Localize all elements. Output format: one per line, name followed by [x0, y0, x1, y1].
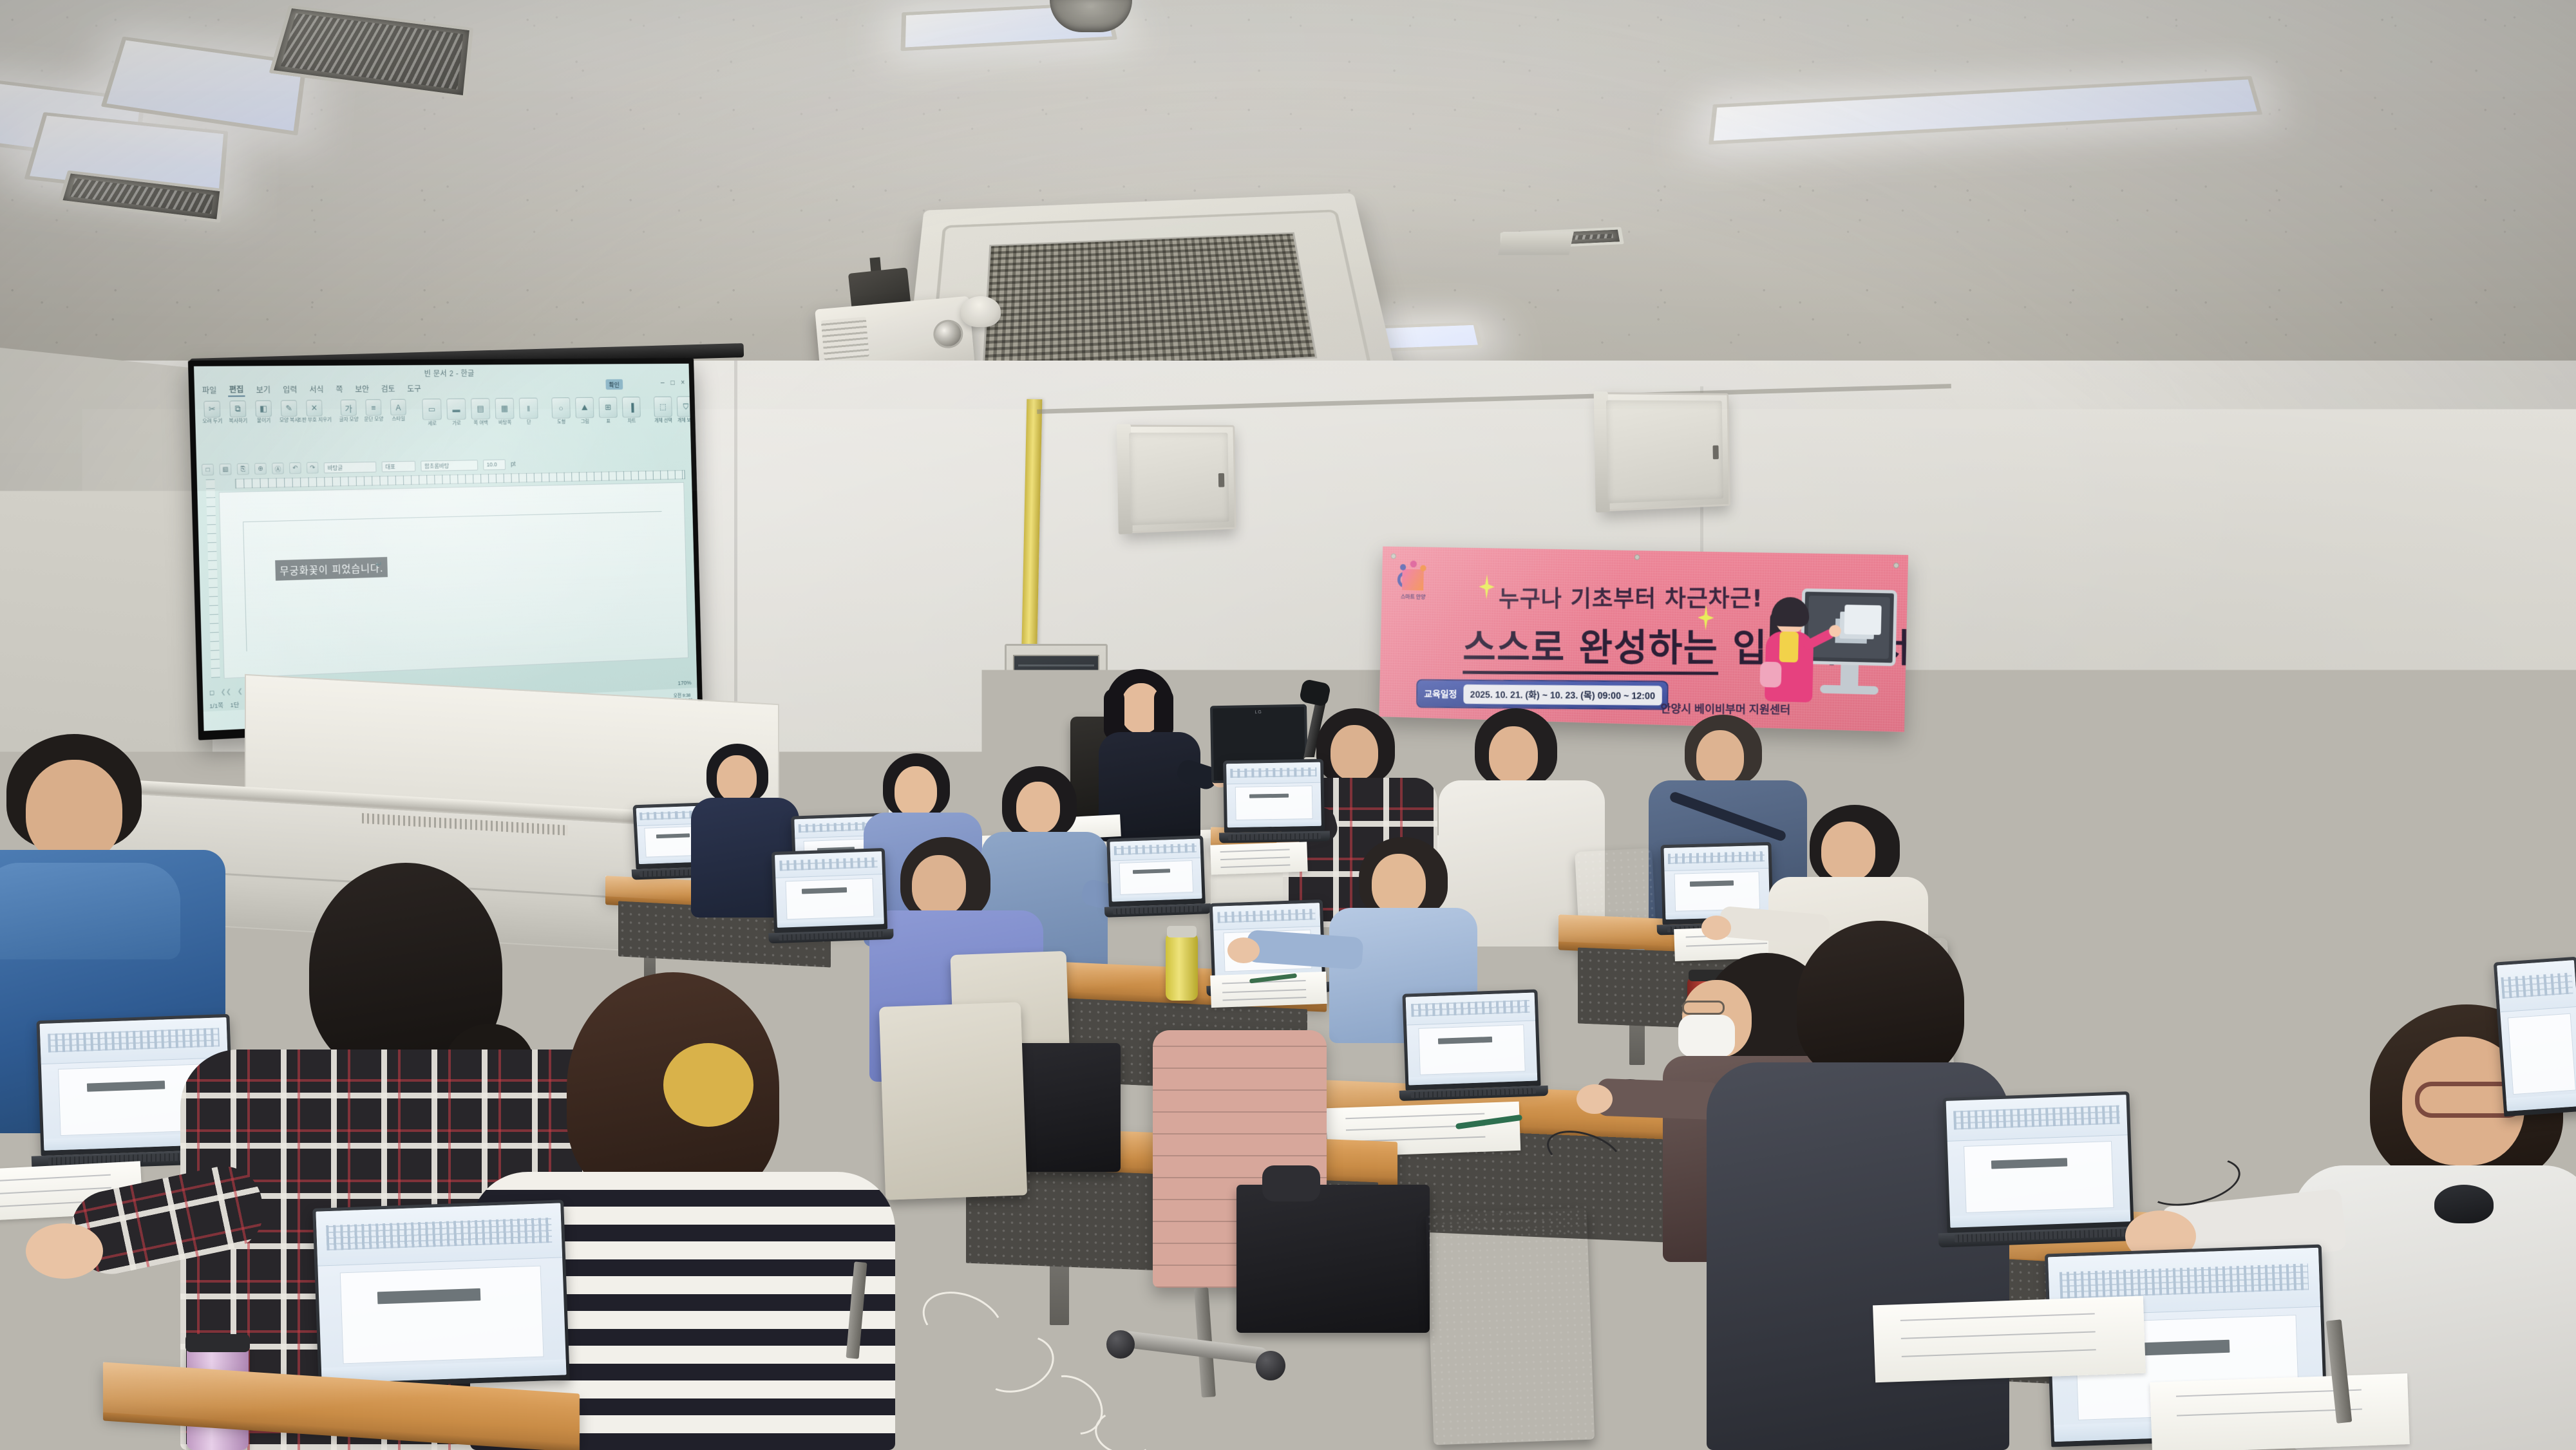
wall-speaker-left: [1121, 425, 1236, 534]
projector-lens-icon: [933, 319, 965, 350]
schedule-label: 교육일정: [1417, 687, 1464, 701]
handout-paper: [2150, 1373, 2410, 1450]
ribbon-group-page: ▭ 세로 ▬ 가로 ▤ 쪽 여백 ▦ 바탕쪽: [421, 398, 538, 427]
ribbon-label-picture: 그림: [581, 419, 589, 425]
ribbon-label-object-select: 개체 선택: [654, 419, 672, 424]
paper-cup: [2080, 882, 2106, 916]
ribbon-label-paragraph-shape: 문단 모양: [364, 417, 383, 422]
redo-icon[interactable]: ↷: [307, 462, 319, 474]
chair-with-cushion: [879, 1002, 1027, 1200]
heater-vent: [362, 813, 568, 836]
font-size-input[interactable]: 10.0: [483, 459, 506, 470]
logo-dot: [1410, 561, 1417, 568]
speaker-port-icon: [1713, 446, 1719, 460]
handout-paper: [1873, 1296, 2146, 1383]
speaker-face: [1606, 400, 1723, 504]
laptop[interactable]: [1402, 989, 1540, 1090]
speaker-port-icon: [1218, 473, 1225, 487]
ribbon-label-table: 표: [606, 419, 611, 424]
clear-marks-icon: ✕: [306, 400, 323, 417]
student-hand: [1577, 1084, 1613, 1114]
open-doc-icon[interactable]: ▧: [219, 464, 231, 475]
monitor-base: [1820, 685, 1879, 695]
laptop-keyboard[interactable]: [1970, 910, 2071, 919]
menu-item-security[interactable]: 보안: [354, 381, 370, 395]
student-head: [26, 760, 122, 863]
logo-heart-shape: [1636, 706, 1648, 719]
laptop-lid: [1402, 989, 1540, 1090]
ribbon-button-object-protect[interactable]: ⛉ 개체 보호: [676, 396, 696, 423]
paste-icon: ◧: [255, 400, 272, 417]
undo-icon[interactable]: ↶: [289, 462, 301, 474]
banner-pin: [1634, 554, 1640, 560]
laptop-screen: [316, 1203, 566, 1383]
student-head: [1016, 782, 1060, 833]
illustration-folders-icon: [1844, 605, 1881, 635]
laptop-screen: [1110, 839, 1202, 902]
event-banner: 스마트 안양 누구나 기초부터 차근차근! 스스로 완성하는 입시지원서 교육일…: [1379, 547, 1908, 732]
window-controls[interactable]: – □ ×: [661, 378, 685, 386]
jacket-hood: [0, 863, 180, 959]
banner-pin: [1391, 553, 1396, 559]
ceiling-bracket: [1498, 232, 1574, 255]
ribbon-button-table[interactable]: ⊞ 표: [598, 397, 618, 424]
menu-item-review[interactable]: 검토: [380, 381, 397, 395]
laptop[interactable]: [1106, 835, 1206, 907]
ribbon-separator: [545, 398, 546, 435]
laptop-lid: [772, 848, 887, 933]
style-dropdown[interactable]: 바탕글: [324, 461, 377, 473]
ribbon-label-portrait: 세로: [428, 421, 437, 427]
laptop-screen: [775, 851, 884, 928]
ribbon-button-font-shape[interactable]: 가 글자 모양: [338, 399, 359, 422]
speaker-face: [1129, 433, 1229, 525]
laptop[interactable]: [1963, 829, 2075, 912]
preview-icon[interactable]: Ⓐ: [272, 462, 284, 474]
chart-icon: ▐: [622, 397, 641, 417]
monitor-brand-label: LG: [1255, 710, 1262, 715]
minimize-icon[interactable]: –: [661, 379, 665, 387]
laptop-keyboard[interactable]: [1411, 1088, 1536, 1098]
ribbon-label-object-protect: 개체 보호: [677, 418, 696, 424]
ribbon-group-object: ⬚ 개체 선택 ⛉ 개체 보호 ⧉ 묶기 ⇅ 위: [653, 396, 697, 424]
ribbon-label-chart: 차트: [627, 419, 636, 424]
ribbon-button-clear-marks[interactable]: ✕ 조판 부호 지우기: [303, 400, 325, 424]
new-doc-icon[interactable]: □: [202, 464, 214, 475]
ribbon-button-chart[interactable]: ▐ 차트: [621, 397, 641, 424]
laptop[interactable]: [1942, 1091, 2134, 1233]
ribbon-label-font-shape: 글자 모양: [339, 417, 359, 423]
illustration-person: [1757, 600, 1819, 709]
banner-headline: 누구나 기초부터 차근차근!: [1499, 579, 1763, 614]
maximize-icon[interactable]: □: [670, 378, 675, 386]
save-doc-icon[interactable]: ⎘: [237, 463, 249, 475]
hwp-ribbon[interactable]: ✂ 오려 두기 ⧉ 복사하기 ◧ 붙이기 ✎ 모: [198, 394, 688, 464]
ribbon-label-master-page: 바탕쪽: [498, 420, 511, 426]
laptop-screen: [1406, 993, 1538, 1086]
menu-item-format[interactable]: 서식: [308, 382, 325, 395]
laptop[interactable]: [312, 1200, 570, 1388]
ribbon-confirm-badge[interactable]: 확인: [605, 379, 623, 390]
logo-heart-shape: [1402, 569, 1424, 590]
ribbon-label-paste: 붙이기: [257, 418, 271, 424]
table-icon: ⊞: [599, 397, 618, 418]
ribbon-button-master-page[interactable]: ▦ 바탕쪽: [495, 398, 515, 426]
schedule-value: 2025. 10. 21. (화) ~ 10. 23. (목) 09:00 ~ …: [1464, 684, 1662, 706]
banner-illustration: [1749, 584, 1897, 715]
ribbon-label-style: 스타일: [392, 417, 405, 422]
ribbon-label-clear-marks: 조판 부호 지우기: [298, 417, 332, 423]
ribbon-button-copy[interactable]: ⧉ 복사하기: [227, 400, 249, 424]
document-page[interactable]: 무궁화꽃이 피었습니다. ↵: [219, 482, 688, 679]
student-hand: [1227, 937, 1260, 963]
margin-icon: ▤: [471, 398, 490, 419]
ribbon-button-margin[interactable]: ▤ 쪽 여백: [470, 398, 491, 426]
student-head: [717, 755, 757, 802]
student-head: [1331, 725, 1378, 780]
status-page: 1/1쪽: [209, 701, 223, 710]
picture-icon: ⛰: [575, 397, 594, 419]
laptop-screen: [1226, 762, 1321, 828]
shape-icon: ○: [551, 397, 571, 419]
ribbon-button-object-select[interactable]: ⬚ 개체 선택: [653, 397, 673, 424]
student-head: [1696, 730, 1744, 784]
menu-item-file[interactable]: 파일: [201, 382, 218, 396]
portrait-icon: ▭: [422, 399, 442, 420]
font-shape-icon: 가: [341, 399, 357, 416]
caster-wheel: [1256, 1351, 1285, 1380]
nav-prev-icon[interactable]: ❮: [238, 688, 243, 695]
master-page-icon: ▦: [495, 398, 515, 419]
smoke-detector-icon: [961, 296, 1001, 327]
font-name-dropdown[interactable]: 함초롬바탕: [421, 460, 478, 471]
student-hand: [2075, 934, 2108, 959]
yellow-thermos: [1166, 934, 1198, 1001]
doc-nav-icon[interactable]: ◻: [209, 689, 214, 696]
tumbler-lid: [185, 1334, 250, 1352]
object-select-icon: ⬚: [654, 397, 672, 417]
laptop-lid: [1223, 759, 1325, 833]
font-group-dropdown[interactable]: 대표: [382, 460, 416, 472]
status-section-col: 1단: [230, 700, 239, 710]
schedule-chip: 교육일정 2025. 10. 21. (화) ~ 10. 23. (목) 09:…: [1416, 679, 1668, 710]
logo-loop-shape: [1636, 697, 1645, 706]
rack-led-indicator: [1019, 691, 1041, 694]
menu-item-page[interactable]: 쪽: [334, 382, 344, 395]
ribbon-button-columns[interactable]: ‖ 단: [518, 398, 539, 426]
columns-icon: ‖: [519, 398, 538, 419]
ribbon-button-cut[interactable]: ✂ 오려 두기: [201, 400, 223, 424]
menu-item-tools[interactable]: 도구: [406, 381, 422, 395]
menu-item-input[interactable]: 입력: [281, 382, 299, 395]
laptop-lid: [312, 1200, 570, 1388]
ribbon-label-copy: 복사하기: [229, 419, 247, 424]
scissors-icon: ✂: [204, 401, 220, 418]
ribbon-button-landscape[interactable]: ▬ 가로: [446, 399, 466, 427]
laptop-keyboard[interactable]: [1113, 906, 1202, 915]
nav-first-icon[interactable]: ❮❮: [221, 688, 232, 696]
laptop-screen: [1946, 1095, 2131, 1228]
logo-dot: [1420, 565, 1426, 572]
object-protect-icon: ⛉: [677, 396, 696, 417]
office-chair: [1426, 1208, 1595, 1445]
laptop-lid: [1942, 1091, 2134, 1233]
ribbon-group-format: 가 글자 모양 ≡ 문단 모양 A 스타일: [338, 399, 409, 423]
zoom-level-label[interactable]: 170%: [677, 679, 691, 686]
logo-text: 스마트 안양: [1395, 592, 1432, 601]
ribbon-label-columns: 단: [527, 420, 531, 426]
ribbon-button-format-copy[interactable]: ✎ 모양 복사: [278, 400, 300, 424]
font-size-unit: pt: [511, 460, 516, 467]
ribbon-button-style[interactable]: A 스타일: [388, 399, 409, 422]
smart-anyang-logo: 스마트 안양: [1394, 560, 1432, 603]
laptop-screen: [1966, 832, 2072, 907]
copy-icon: ⧉: [229, 400, 246, 417]
ribbon-button-shape[interactable]: ○ 도형: [551, 397, 571, 425]
instructor-hair-side: [1154, 688, 1173, 739]
person-hair: [1771, 597, 1810, 627]
ribbon-group-clipboard: ✂ 오려 두기 ⧉ 복사하기 ◧ 붙이기 ✎ 모: [201, 400, 325, 425]
ribbon-label-landscape: 가로: [452, 421, 461, 427]
projector-vent-fins: [821, 317, 869, 361]
selected-document-text[interactable]: 무궁화꽃이 피었습니다.: [275, 557, 388, 581]
laptop-screen: [2497, 960, 2576, 1111]
ribbon-label-margin: 쪽 여백: [473, 420, 488, 426]
classroom-photo: 빈 문서 2 - 한글 파일 편집 보기 입력 서식 쪽 보안 검토 도구 확인…: [0, 0, 2576, 1450]
wall-speaker-right: [1598, 392, 1730, 512]
banner-pin: [1893, 563, 1899, 569]
laptop[interactable]: [1223, 759, 1325, 833]
student-head: [895, 766, 937, 816]
thermos-cap: [1167, 926, 1197, 937]
vertical-ruler[interactable]: [206, 479, 220, 678]
pilcrow-icon: ↵: [375, 560, 383, 570]
print-icon[interactable]: ⊕: [254, 463, 267, 475]
laptop-lid: [1963, 829, 2075, 912]
laptop-keyboard[interactable]: [779, 931, 884, 941]
menu-item-view[interactable]: 보기: [254, 382, 272, 395]
student-head: [1489, 726, 1538, 783]
paragraph-shape-icon: ≡: [365, 399, 381, 416]
ribbon-label-format-copy: 모양 복사: [279, 418, 299, 424]
student-head: [912, 855, 966, 916]
caster-wheel: [1106, 1330, 1135, 1359]
ribbon-button-paste[interactable]: ◧ 붙이기: [252, 400, 274, 424]
black-bag-on-chair: [1236, 1185, 1430, 1333]
laptop-lid: [1106, 835, 1206, 907]
ribbon-group-insert: ○ 도형 ⛰ 그림 ⊞ 표 ▐ 차트: [551, 397, 641, 425]
person-scarf: [1779, 632, 1799, 663]
laptop[interactable]: [772, 848, 887, 933]
student-head: [1372, 854, 1426, 914]
monitor-stand: [1841, 665, 1859, 688]
ribbon-label-shape: 도형: [557, 420, 565, 426]
ribbon-button-portrait[interactable]: ▭ 세로: [421, 399, 442, 427]
laptop[interactable]: [2494, 957, 2576, 1116]
landscape-icon: ▬: [446, 399, 466, 420]
person-bag: [1760, 661, 1782, 687]
computer-mouse[interactable]: [2434, 1185, 2494, 1223]
student-hand: [26, 1223, 103, 1279]
student-head: [1821, 822, 1875, 881]
hair-scrunchie: [663, 1043, 753, 1127]
laptop-lid: [2494, 957, 2576, 1116]
ac-grille: [982, 232, 1317, 374]
format-brush-icon: ✎: [281, 400, 298, 417]
ribbon-label-cut: 오려 두기: [202, 419, 222, 424]
page-margin-guide: [243, 511, 665, 652]
ribbon-separator: [415, 399, 416, 437]
ribbon-button-picture[interactable]: ⛰ 그림: [574, 397, 594, 425]
student-hair: [1797, 921, 1964, 1082]
banner-subhead-part1: 스스로 완성하는: [1463, 626, 1718, 675]
menu-item-edit[interactable]: 편집: [228, 382, 245, 397]
close-icon[interactable]: ×: [681, 378, 685, 386]
ribbon-separator: [647, 397, 648, 433]
style-icon: A: [390, 399, 406, 416]
ribbon-button-paragraph-shape[interactable]: ≡ 문단 모양: [363, 399, 384, 422]
bag-handle: [1262, 1165, 1320, 1201]
